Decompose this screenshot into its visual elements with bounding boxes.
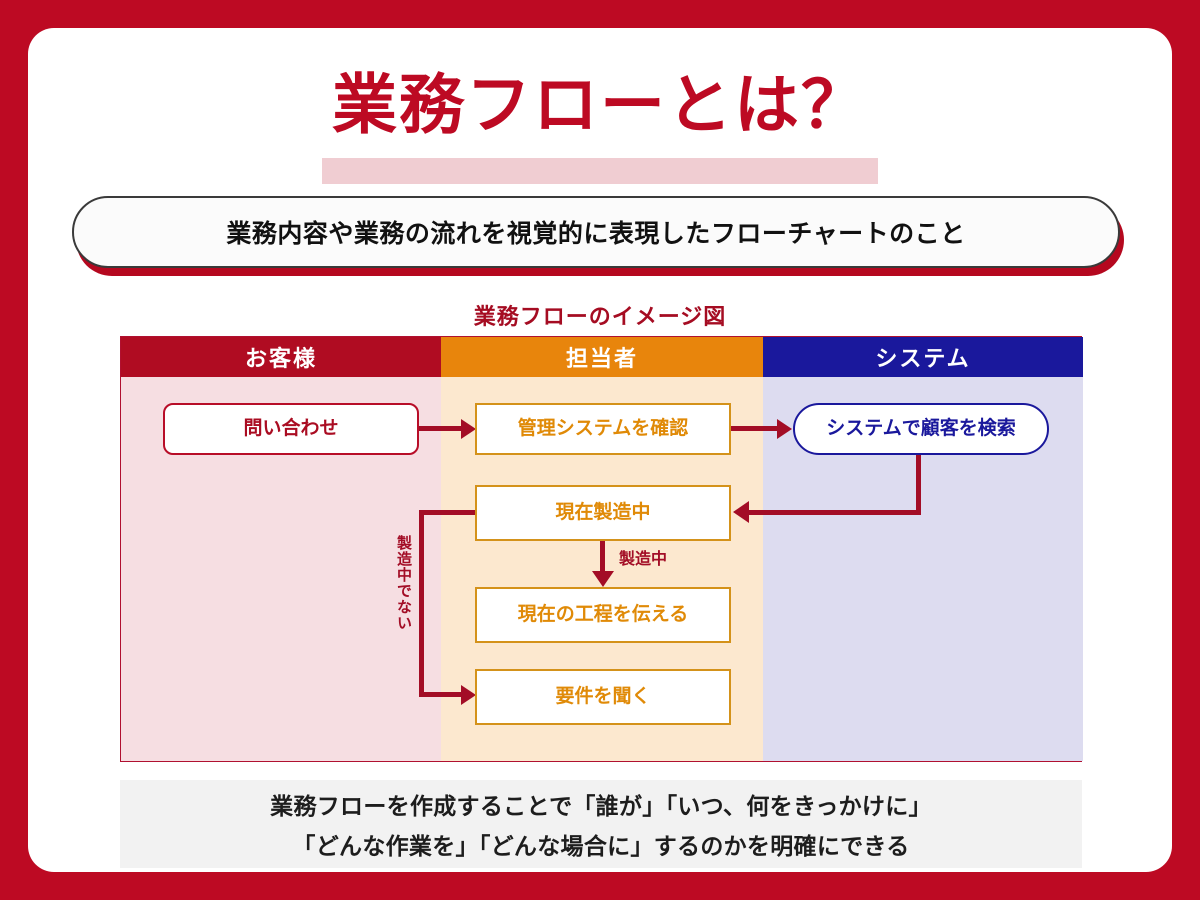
outer-red-frame: 業務フローとは？ 業務内容や業務の流れを視覚的に表現したフローチャートのこと 業…: [0, 0, 1200, 900]
title-highlight-bar: [322, 158, 878, 184]
connector-making-branch-left: [419, 510, 477, 515]
connector-branch-to-requirements: [419, 692, 463, 697]
connector-making-to-process: [600, 541, 605, 573]
flow-node-check-system[interactable]: 管理システムを確認: [475, 403, 731, 455]
arrowhead-down-icon: [592, 571, 614, 587]
subtitle-text: 業務内容や業務の流れを視覚的に表現したフローチャートのこと: [226, 214, 965, 250]
arrowhead-right-icon: [777, 419, 792, 439]
connector-inquiry-to-check: [419, 426, 463, 431]
content-card: 業務フローとは？ 業務内容や業務の流れを視覚的に表現したフローチャートのこと 業…: [28, 28, 1172, 872]
flow-node-tell-process[interactable]: 現在の工程を伝える: [475, 587, 731, 643]
page-title: 業務フローとは？: [28, 64, 1172, 145]
footer-line-1: 業務フローを作成することで「誰が」「いつ、何をきっかけに」: [270, 787, 932, 821]
swimlane-header-system: システム: [763, 337, 1083, 377]
footer-summary: 業務フローを作成することで「誰が」「いつ、何をきっかけに」 「どんな作業を」「ど…: [120, 780, 1082, 868]
flow-node-hear-requirements[interactable]: 要件を聞く: [475, 669, 731, 725]
connector-check-to-search: [731, 426, 779, 431]
connector-branch-down: [419, 510, 424, 697]
swimlane-header-staff: 担当者: [441, 337, 763, 377]
flow-node-currently-making[interactable]: 現在製造中: [475, 485, 731, 541]
swimlane-header-customer: お客様: [121, 337, 441, 377]
subtitle-pill: 業務内容や業務の流れを視覚的に表現したフローチャートのこと: [72, 196, 1120, 268]
arrowhead-right-icon: [461, 419, 476, 439]
edge-label-making: 製造中: [619, 545, 667, 569]
title-block: 業務フローとは？: [28, 64, 1172, 145]
diagram-section-label: 業務フローのイメージ図: [28, 299, 1172, 331]
arrowhead-right-icon: [461, 685, 476, 705]
business-flow-diagram: お客様 担当者 システム 製造中 製造中でない 問い合わせ 管理システムを確認 …: [120, 336, 1082, 762]
footer-line-2: 「どんな作業を」「どんな場合に」するのかを明確にできる: [292, 827, 909, 861]
flow-node-inquiry[interactable]: 問い合わせ: [163, 403, 419, 455]
edge-label-not-making: 製造中でない: [389, 535, 411, 631]
connector-search-down: [916, 455, 921, 515]
arrowhead-left-icon: [733, 501, 749, 523]
flow-node-search-customer[interactable]: システムで顧客を検索: [793, 403, 1049, 455]
connector-search-to-making: [749, 510, 921, 515]
